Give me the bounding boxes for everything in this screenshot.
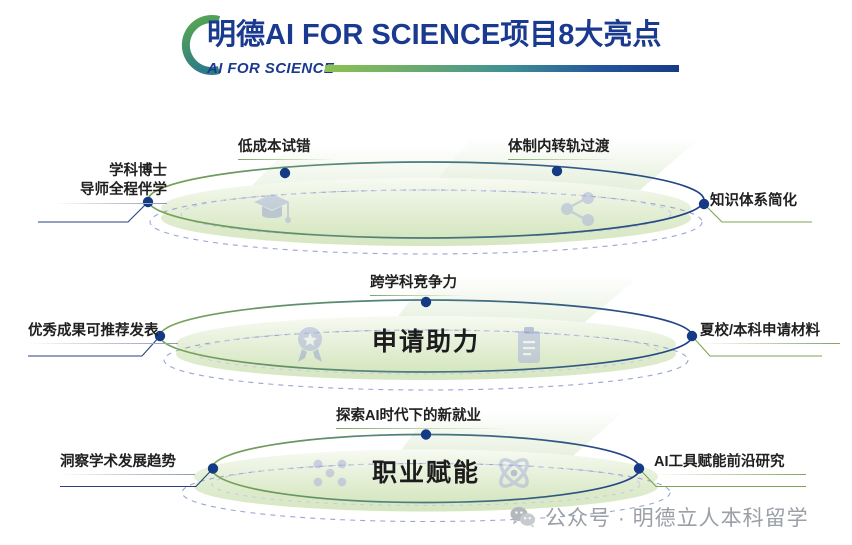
node-dot: [421, 429, 431, 439]
label-s1-right: 知识体系简化: [710, 192, 797, 210]
label-underline: [238, 159, 334, 160]
label-underline: [60, 474, 195, 475]
label-s2-right: 夏校/本科申请材料: [700, 322, 840, 344]
label-s1-top-left-text: 低成本试错: [238, 139, 311, 155]
label-s3-right-text: AI工具赋能前沿研究: [654, 454, 785, 470]
label-s2-left-text: 优秀成果可推荐发表: [28, 323, 159, 339]
label-underline: [28, 343, 178, 344]
label-s1-top-right: 体制内转轨过渡: [508, 138, 618, 160]
label-s2-top-center-text: 跨学科竞争力: [370, 275, 457, 291]
graduation-cap-icon: [250, 188, 294, 228]
node-dot: [699, 199, 709, 209]
node-dot: [421, 297, 431, 307]
label-s1-right-text: 知识体系简化: [710, 193, 797, 209]
label-s1-left: 学科博士 导师全程伴学: [55, 162, 167, 204]
label-s2-left: 优秀成果可推荐发表: [28, 322, 178, 344]
page-subtitle: AI FOR SCIENCE: [207, 60, 334, 77]
label-s3-top-center-text: 探索AI时代下的新就业: [336, 408, 481, 424]
label-s3-top-center: 探索AI时代下的新就业: [336, 407, 506, 429]
watermark: 公众号 · 明德立人本科留学: [510, 502, 809, 532]
section-application-support: 申请助力 优秀成果可推荐发表 跨学科竞争力 夏校/本科申请材料: [0, 272, 852, 412]
share-nodes-icon: [558, 190, 598, 228]
label-s3-left-text: 洞察学术发展趋势: [60, 454, 176, 470]
label-s2-top-center: 跨学科竞争力: [370, 274, 466, 296]
label-underline: [654, 474, 806, 475]
page-header: 明德AI FOR SCIENCE项目8大亮点 AI FOR SCIENCE: [0, 0, 852, 96]
node-dot: [552, 166, 562, 176]
header-gradient-bar: [325, 65, 679, 72]
label-s1-top-left: 低成本试错: [238, 138, 334, 160]
label-s3-right: AI工具赋能前沿研究: [654, 453, 806, 475]
label-s3-left: 洞察学术发展趋势: [60, 453, 195, 475]
label-underline: [55, 203, 167, 204]
label-underline: [700, 343, 840, 344]
label-underline: [508, 159, 618, 160]
node-dot: [280, 168, 290, 178]
label-s1-top-right-text: 体制内转轨过渡: [508, 139, 610, 155]
section-professional-exploration: 专业探索 学科博士 导师全程伴学 低成本试错 体制内转轨过渡 知识体系简化: [0, 130, 852, 270]
label-s2-right-text: 夏校/本科申请材料: [700, 323, 820, 339]
label-s1-left-line1: 学科博士: [55, 162, 167, 181]
label-s1-left-line2: 导师全程伴学: [55, 181, 167, 200]
watermark-text: 公众号 · 明德立人本科留学: [545, 502, 809, 532]
wechat-icon: [510, 506, 536, 528]
label-underline: [336, 428, 506, 429]
page-title: 明德AI FOR SCIENCE项目8大亮点: [207, 16, 661, 54]
label-underline: [370, 295, 466, 296]
